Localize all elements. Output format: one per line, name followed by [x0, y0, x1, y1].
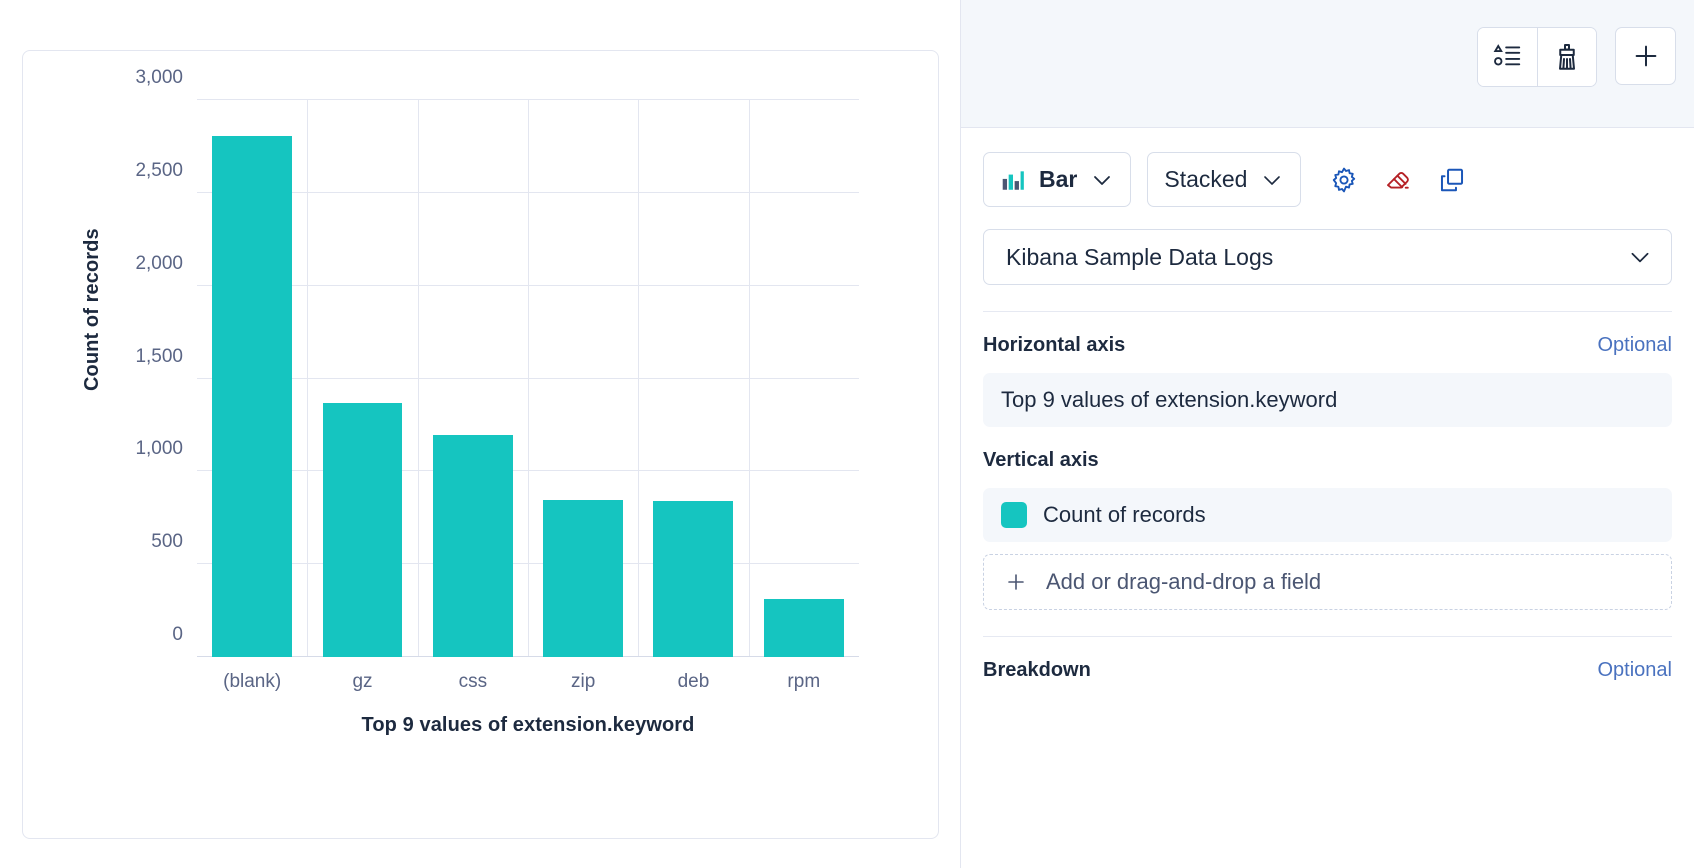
dimension-label: Top 9 values of extension.keyword	[1001, 387, 1337, 413]
copy-icon	[1438, 166, 1466, 194]
bar-slot: css	[418, 100, 528, 657]
config-panel: Bar Stacked	[960, 0, 1694, 868]
section-title: Vertical axis	[983, 449, 1099, 472]
bar-chart-icon	[1000, 167, 1026, 193]
section-header-horizontal-axis: Horizontal axis Optional	[961, 312, 1694, 357]
x-axis-title: Top 9 values of extension.keyword	[197, 714, 859, 737]
chart-arrangement-select[interactable]: Stacked	[1147, 152, 1301, 207]
section-title: Horizontal axis	[983, 334, 1125, 357]
x-axis-tick-label: deb	[678, 671, 710, 693]
plot-area: 05001,0001,5002,0002,5003,000 (blank)gzc…	[197, 100, 859, 657]
gear-icon	[1330, 166, 1358, 194]
duplicate-layer-button[interactable]	[1429, 157, 1475, 203]
chart-type-select[interactable]: Bar	[983, 152, 1131, 207]
dimension-label: Count of records	[1043, 502, 1206, 528]
bar-series: (blank)gzcsszipdebrpm	[197, 100, 859, 657]
x-axis-tick-label: zip	[571, 671, 595, 693]
layer-actions	[1321, 157, 1475, 203]
layer-settings-button[interactable]	[1321, 157, 1367, 203]
chart-controls-row: Bar Stacked	[961, 128, 1694, 207]
series-color-swatch[interactable]	[1001, 502, 1027, 528]
display-options-group	[1477, 27, 1597, 87]
config-panel-body: Bar Stacked	[961, 128, 1694, 682]
chart-area: Count of records 05001,0001,5002,0002,50…	[23, 51, 938, 838]
bar[interactable]	[764, 599, 844, 657]
y-axis-tick-label: 500	[151, 531, 183, 553]
bar-slot: gz	[307, 100, 417, 657]
dropzone-label: Add or drag-and-drop a field	[1046, 569, 1321, 595]
bar-slot: (blank)	[197, 100, 307, 657]
brush-styling-button[interactable]	[1537, 28, 1596, 86]
bar[interactable]	[323, 403, 403, 657]
section-title: Breakdown	[983, 659, 1091, 682]
y-axis-tick-label: 2,500	[135, 160, 183, 182]
bar-slot: zip	[528, 100, 638, 657]
data-source-value: Kibana Sample Data Logs	[1006, 244, 1273, 271]
plus-icon	[1631, 41, 1661, 71]
y-axis-tick-label: 3,000	[135, 67, 183, 89]
y-axis-tick-label: 2,000	[135, 253, 183, 275]
x-axis-tick-label: css	[459, 671, 488, 693]
list-options-icon	[1493, 42, 1523, 72]
chart-card: Count of records 05001,0001,5002,0002,50…	[22, 50, 939, 839]
clear-layer-button[interactable]	[1375, 157, 1421, 203]
bar-slot: rpm	[749, 100, 859, 657]
dimension-horizontal-axis[interactable]: Top 9 values of extension.keyword	[983, 373, 1672, 427]
lens-editor: Count of records 05001,0001,5002,0002,50…	[0, 0, 1694, 868]
legend-options-button[interactable]	[1478, 28, 1537, 86]
bar-slot: deb	[638, 100, 748, 657]
bar[interactable]	[543, 500, 623, 657]
chart-type-label: Bar	[1039, 166, 1077, 193]
eraser-icon	[1384, 166, 1412, 194]
bar[interactable]	[653, 501, 733, 657]
vertical-axis-dropzone[interactable]: Add or drag-and-drop a field	[983, 554, 1672, 610]
section-optional-label: Optional	[1598, 659, 1673, 682]
y-axis-title: Count of records	[81, 191, 104, 391]
bar[interactable]	[212, 136, 292, 657]
data-source-select[interactable]: Kibana Sample Data Logs	[983, 229, 1672, 285]
x-axis-tick-label: rpm	[787, 671, 820, 693]
section-header-breakdown: Breakdown Optional	[961, 637, 1694, 682]
chevron-down-icon	[1090, 168, 1114, 192]
brush-icon	[1552, 42, 1582, 72]
dimension-vertical-axis[interactable]: Count of records	[983, 488, 1672, 542]
y-axis-tick-label: 1,500	[135, 346, 183, 368]
bar[interactable]	[433, 435, 513, 657]
section-header-vertical-axis: Vertical axis	[961, 427, 1694, 472]
chart-arrangement-label: Stacked	[1164, 166, 1247, 193]
section-optional-label: Optional	[1598, 334, 1673, 357]
x-axis-tick-label: (blank)	[223, 671, 281, 693]
add-layer-button[interactable]	[1615, 27, 1676, 85]
y-axis-tick-label: 0	[172, 624, 183, 646]
chevron-down-icon	[1627, 244, 1653, 270]
chevron-down-icon	[1260, 168, 1284, 192]
chart-workspace: Count of records 05001,0001,5002,0002,50…	[0, 0, 960, 868]
config-panel-header	[961, 0, 1694, 128]
x-axis-tick-label: gz	[352, 671, 372, 693]
plus-icon	[1004, 570, 1028, 594]
y-axis-tick-label: 1,000	[135, 438, 183, 460]
